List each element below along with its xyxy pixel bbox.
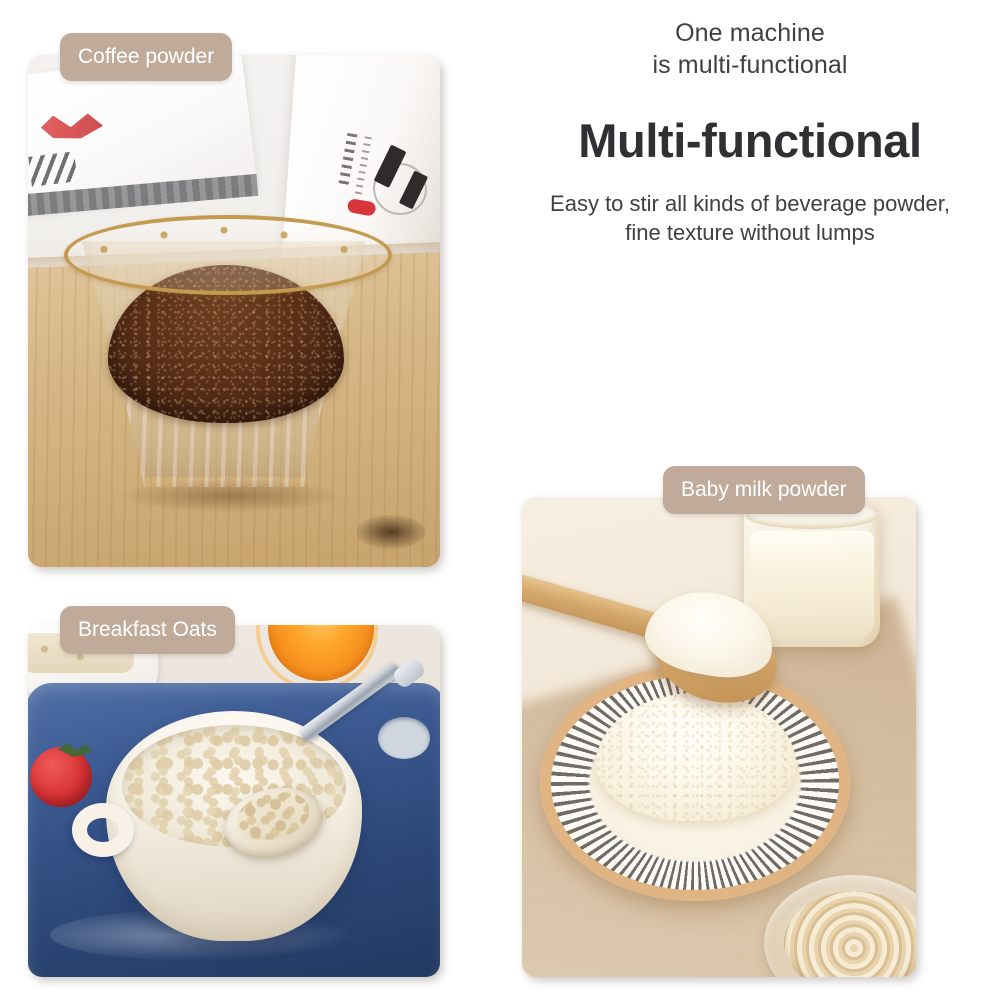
photo-panel-oats — [28, 625, 440, 977]
coffee-scene — [28, 55, 440, 567]
oatmeal-bowl — [106, 711, 362, 941]
badge-breakfast-oats: Breakfast Oats — [60, 606, 235, 654]
oats-scene — [28, 625, 440, 977]
tray-handle-hole — [378, 717, 430, 759]
cherry-tomato — [30, 747, 92, 807]
board-dark-spot — [356, 515, 426, 549]
box-label-text-secondary — [354, 136, 372, 198]
bowl-scalloped-edge — [66, 211, 382, 291]
photo-panel-milk-powder — [522, 497, 916, 977]
milk-scene — [522, 497, 916, 977]
page-title: Multi-functional — [520, 115, 980, 167]
subtitle-text: Easy to stir all kinds of beverage powde… — [520, 189, 980, 248]
photo-panel-coffee — [28, 55, 440, 567]
box-label-text — [339, 133, 358, 186]
badge-baby-milk-powder: Baby milk powder — [663, 466, 865, 514]
product-banner: One machine is multi-functional Multi-fu… — [0, 0, 1000, 1000]
sachet-dark-mark — [28, 151, 77, 186]
glass-bowl — [64, 205, 384, 505]
marketing-copy-block: One machine is multi-functional Multi-fu… — [520, 18, 980, 248]
milk-liquid — [750, 531, 874, 639]
eyebrow-text: One machine is multi-functional — [520, 18, 980, 81]
badge-coffee-powder: Coffee powder — [60, 33, 232, 81]
bowl-handle — [72, 803, 134, 857]
sachet-red-mark — [40, 110, 105, 143]
